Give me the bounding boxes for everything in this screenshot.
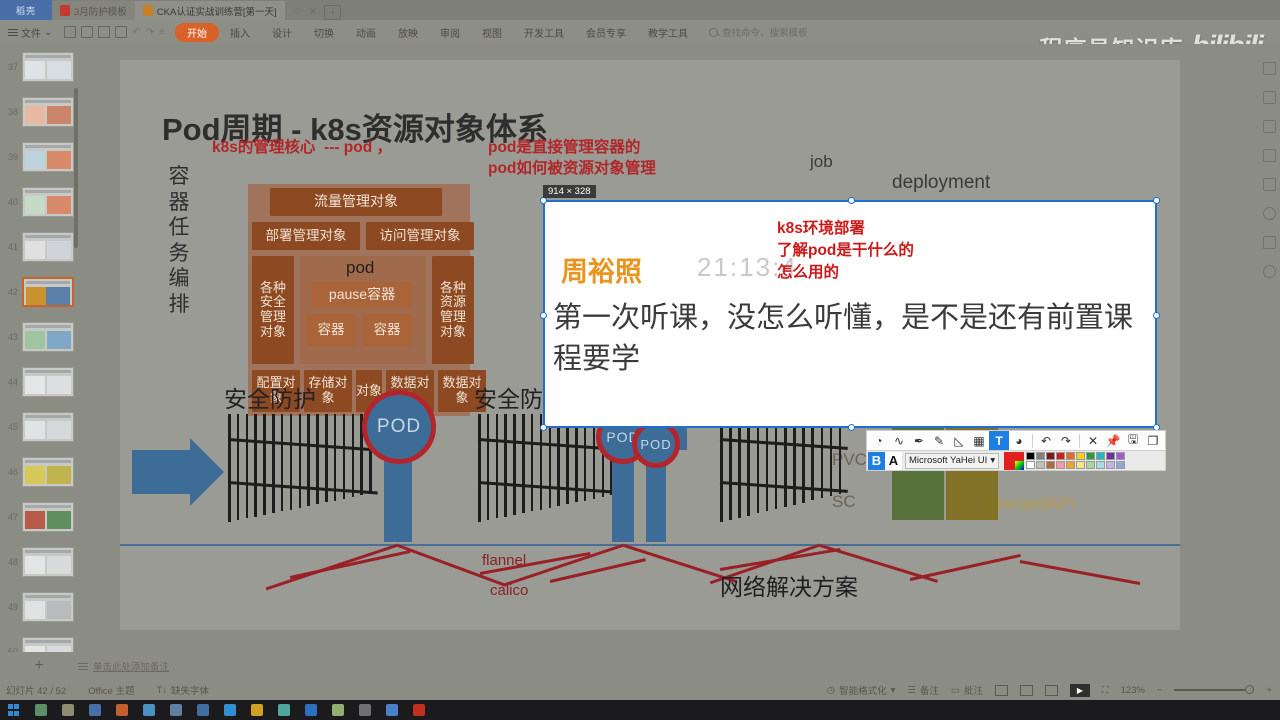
mail-icon-glyph	[224, 704, 236, 716]
right-tool-rail	[1258, 44, 1280, 652]
resize-handle-n[interactable]	[848, 197, 855, 204]
resize-handle-s[interactable]	[848, 424, 855, 431]
fence-1	[228, 414, 378, 522]
color-swatch[interactable]	[1086, 452, 1095, 460]
search-icon	[709, 28, 718, 37]
search-icon[interactable]	[27, 700, 54, 720]
chrome-icon-glyph	[251, 704, 263, 716]
ground-line	[120, 544, 1180, 546]
document-tab-1-label: 3月防护模板	[74, 4, 127, 18]
viewer-name: 周裕照	[561, 250, 642, 289]
bold-button[interactable]: B	[868, 452, 885, 470]
align-icon[interactable]	[1263, 91, 1276, 104]
ribbon-tab-devtools[interactable]: 开发工具	[513, 22, 575, 43]
notes-bar: + 单击此处添加备注	[0, 652, 1280, 680]
undo-icon[interactable]: ↶	[1036, 431, 1056, 450]
thumbnail-number: 41	[4, 242, 18, 252]
browser-icon-glyph	[143, 704, 155, 716]
chevron-down-icon: ▾	[891, 685, 896, 696]
ppt-icon-orange	[143, 5, 153, 16]
redo-icon[interactable]: ↷	[146, 27, 154, 38]
thumbnail-item-40[interactable]: 40	[0, 179, 78, 224]
effects-icon[interactable]	[1263, 120, 1276, 133]
status-left-group: 幻灯片 42 / 52 Office 主题 T↓ 缺失字体	[0, 683, 209, 697]
thumbnail-number: 44	[4, 377, 18, 387]
font-warning-label: 缺失字体	[171, 683, 209, 697]
file-menu-button[interactable]: 文件 ⌄	[0, 25, 58, 40]
add-slide-button[interactable]: +	[0, 657, 78, 675]
network-leg	[290, 550, 411, 578]
quick-access-toolbar: ↶ ↷ ≡	[58, 26, 171, 38]
cloud-icon[interactable]	[270, 700, 297, 720]
doc-icon-red	[60, 5, 70, 16]
thumbnail-number: 46	[4, 467, 18, 477]
tab-actions: ♡ ✕ +	[285, 5, 349, 20]
shape-tool-icon[interactable]	[1263, 207, 1276, 220]
wps-icon-glyph	[305, 704, 317, 716]
current-color-swatch[interactable]	[1004, 452, 1024, 470]
ribbon-tab-animation[interactable]: 动画	[345, 22, 387, 43]
notes-icon[interactable]	[324, 700, 351, 720]
color-swatch[interactable]	[1036, 452, 1045, 460]
smart-beautify-icon[interactable]	[1263, 62, 1276, 75]
thumbnail-preview[interactable]	[22, 97, 74, 127]
network-leg	[1020, 560, 1140, 584]
taskview-icon-glyph	[62, 704, 74, 716]
recorder-icon-glyph	[359, 704, 371, 716]
ribbon-search-placeholder: 查找命令、搜索模板	[722, 25, 808, 39]
app-logo[interactable]: 稻壳	[0, 0, 52, 20]
more-icon[interactable]: ≡	[159, 27, 165, 38]
notes-icon	[78, 661, 88, 672]
notes-toggle[interactable]: ☰ 备注	[907, 683, 939, 697]
search-icon-glyph	[35, 704, 47, 716]
smart-format-label: 智能格式化	[839, 683, 887, 697]
color-swatch[interactable]	[1026, 461, 1035, 469]
thumbnail-item-38[interactable]: 38	[0, 89, 78, 134]
textbox-red-note: k8s环境部署 了解pod是干什么的 怎么用的	[777, 218, 914, 284]
color-swatch[interactable]	[1066, 452, 1075, 460]
chevron-down-icon: ⌄	[44, 27, 52, 38]
color-swatch[interactable]	[1026, 452, 1035, 460]
heart-icon[interactable]: ♡	[293, 7, 302, 18]
wave-line-icon[interactable]: ∿	[889, 431, 909, 450]
zoom-in-button[interactable]: +	[1266, 685, 1272, 696]
color-swatch[interactable]	[1096, 452, 1105, 460]
thumbnail-item-49[interactable]: 49	[0, 584, 78, 629]
taskview-icon[interactable]	[54, 700, 81, 720]
cloud-icon-glyph	[278, 704, 290, 716]
windows-taskbar	[0, 700, 1280, 720]
toolbar-divider	[1079, 434, 1080, 448]
ribbon-tab-start[interactable]: 开始	[175, 23, 219, 42]
flow-arrow-body	[132, 450, 192, 494]
normal-view-icon[interactable]	[995, 685, 1008, 696]
color-swatch[interactable]	[1076, 452, 1085, 460]
label-deployment: deployment	[892, 172, 990, 194]
image-tool-icon[interactable]	[1263, 178, 1276, 191]
ribbon-tab-member[interactable]: 会员专享	[575, 22, 637, 43]
zoom-out-button[interactable]: −	[1157, 685, 1163, 696]
crop-icon[interactable]	[1263, 149, 1276, 162]
notes-toggle-label: 备注	[920, 683, 939, 697]
print-preview-icon[interactable]	[115, 26, 127, 38]
grid-icon[interactable]: ▦	[969, 431, 989, 450]
color-swatch[interactable]	[1086, 461, 1095, 469]
pen-icon[interactable]: ✒	[909, 431, 929, 450]
hamburger-icon	[8, 27, 18, 38]
start-button[interactable]	[0, 700, 27, 720]
thumbnail-item-39[interactable]: 39	[0, 134, 78, 179]
notes-placeholder-label: 单击此处添加备注	[93, 659, 169, 673]
reading-view-icon[interactable]	[1045, 685, 1058, 696]
thumbnail-preview[interactable]	[22, 592, 74, 622]
label-job: job	[810, 152, 833, 172]
label-calico: calico	[490, 582, 528, 599]
ribbon-tabs: 开始 插入 设计 切换 动画 放映 审阅 视图 开发工具 会员专享 教学工具	[175, 22, 699, 43]
selection-size-tooltip: 914 × 328	[543, 185, 596, 198]
comment-icon: ▭	[951, 685, 960, 696]
thumbnail-item-42[interactable]: 42	[0, 269, 78, 314]
copy-icon[interactable]: ❐	[1143, 431, 1163, 450]
status-bar: 幻灯片 42 / 52 Office 主题 T↓ 缺失字体 ◷ 智能格式化 ▾ …	[0, 680, 1280, 700]
ribbon-tab-teaching[interactable]: 教学工具	[637, 22, 699, 43]
thumbnail-preview[interactable]	[22, 52, 74, 82]
sorter-view-icon[interactable]	[1020, 685, 1033, 696]
highlighter-icon[interactable]: ◺	[949, 431, 969, 450]
comments-toggle[interactable]: ▭ 批注	[951, 683, 983, 697]
comments-toggle-label: 批注	[964, 683, 983, 697]
chrome-icon[interactable]	[243, 700, 270, 720]
widgets-icon-glyph	[116, 704, 128, 716]
security-title-1: 安全防护	[224, 380, 316, 414]
thumbnail-number: 47	[4, 512, 18, 522]
pin-icon[interactable]: 📌	[1103, 431, 1123, 450]
ribbon-tab-slideshow[interactable]: 放映	[387, 22, 429, 43]
thumbnail-number: 40	[4, 197, 18, 207]
color-palette[interactable]	[1026, 452, 1125, 469]
thumbnail-number: 38	[4, 107, 18, 117]
smart-format-button[interactable]: ◷ 智能格式化 ▾	[827, 683, 896, 697]
wps-icon[interactable]	[297, 700, 324, 720]
thumbnail-item-48[interactable]: 48	[0, 539, 78, 584]
thumbnail-preview[interactable]	[22, 322, 74, 352]
document-tab-2-label: CKA认证实战训练营[第一天]	[157, 4, 277, 18]
blue-app-icon[interactable]	[378, 700, 405, 720]
resize-handle-w[interactable]	[540, 312, 547, 319]
slide-counter: 幻灯片 42 / 52	[6, 683, 66, 697]
slide-thumbnail-pane[interactable]: 373839404142434445464748495051	[0, 44, 78, 652]
save-icon[interactable]	[64, 26, 76, 38]
thumbnail-preview[interactable]	[22, 367, 74, 397]
box-deploy-management: 部署管理对象	[252, 222, 360, 250]
mail-icon[interactable]	[216, 700, 243, 720]
color-swatch[interactable]	[1056, 461, 1065, 469]
chevron-down-icon: ▾	[990, 455, 995, 466]
store-icon-glyph	[89, 704, 101, 716]
zoom-slider[interactable]	[1174, 689, 1254, 691]
ribbon-tab-view[interactable]: 视图	[471, 22, 513, 43]
font-family-value: Microsoft YaHei UI	[909, 455, 987, 466]
box-resource-management: 各种资源管理对象	[432, 256, 474, 364]
pod-label: pod	[346, 258, 374, 278]
font-warning-icon: T↓	[156, 685, 167, 696]
pod-stem-2	[612, 456, 634, 542]
text-tool-icon[interactable]: T	[989, 431, 1009, 450]
box-access-management: 访问管理对象	[366, 222, 474, 250]
color-swatch[interactable]	[1116, 452, 1125, 460]
thumbnail-preview[interactable]	[22, 502, 74, 532]
thumbnail-preview[interactable]	[22, 637, 74, 653]
thumbnail-item-41[interactable]: 41	[0, 224, 78, 269]
box-container-2: 容器	[362, 314, 412, 346]
fence-3	[720, 414, 848, 522]
ink-format-row: B A Microsoft YaHei UI ▾	[866, 451, 1166, 471]
ink-annotation-toolbar: ◔∿✒✎◺▦T◕↶↷✕📌🖫❐ B A Microsoft YaHei UI ▾	[866, 430, 1166, 471]
ribbon-search[interactable]: 查找命令、搜索模板	[709, 25, 808, 39]
resize-handle-sw[interactable]	[540, 424, 547, 431]
flow-arrow-head	[190, 438, 224, 506]
resize-handle-nw[interactable]	[540, 197, 547, 204]
thumbnail-number: 49	[4, 602, 18, 612]
ribbon-tab-design[interactable]: 设计	[261, 22, 303, 43]
thumbnail-preview[interactable]	[22, 277, 74, 307]
color-swatch[interactable]	[1096, 461, 1105, 469]
pod-stem-1	[384, 456, 412, 542]
fit-slide-icon[interactable]: ⛶	[1102, 685, 1109, 696]
zoom-slider-knob[interactable]	[1245, 685, 1254, 694]
photos-icon[interactable]	[189, 700, 216, 720]
wps-presentation-window: 稻壳 3月防护模板 CKA认证实战训练营[第一天] ♡ ✕ + 文件 ⌄ ↶ ↷	[0, 0, 1280, 720]
resize-handle-ne[interactable]	[1153, 197, 1160, 204]
thumbnail-item-37[interactable]: 37	[0, 44, 78, 89]
thumbnail-preview[interactable]	[22, 457, 74, 487]
color-swatch[interactable]	[1106, 461, 1115, 469]
thumbnail-preview[interactable]	[22, 547, 74, 577]
slideshow-play-button[interactable]: ▶	[1070, 684, 1090, 697]
feedback-icon[interactable]	[1263, 265, 1276, 278]
resize-handle-e[interactable]	[1153, 312, 1160, 319]
thumbnail-number: 48	[4, 557, 18, 567]
eraser-icon[interactable]: ◕	[1009, 431, 1029, 450]
browser-icon[interactable]	[135, 700, 162, 720]
store-icon[interactable]	[81, 700, 108, 720]
save-as-icon[interactable]	[81, 26, 93, 38]
font-style-button[interactable]: A	[885, 452, 902, 470]
network-leg	[910, 554, 1021, 580]
box-container-1: 容器	[306, 314, 356, 346]
color-swatch[interactable]	[1116, 461, 1125, 469]
document-tab-2[interactable]: CKA认证实战训练营[第一天]	[135, 1, 285, 20]
new-tab-button[interactable]: +	[324, 5, 341, 20]
red-app-icon-glyph	[413, 704, 425, 716]
red-app-icon[interactable]	[405, 700, 432, 720]
notes-toggle-icon: ☰	[907, 685, 916, 696]
lasso-icon[interactable]: ◔	[869, 431, 889, 450]
thumbnail-number: 42	[4, 287, 18, 297]
widgets-icon[interactable]	[108, 700, 135, 720]
color-swatch[interactable]	[1056, 452, 1065, 460]
box-traffic-management: 流量管理对象	[270, 188, 442, 216]
pencil-icon[interactable]: ✎	[929, 431, 949, 450]
annotation-textbox[interactable]: 周裕照 21:13:4 k8s环境部署 了解pod是干什么的 怎么用的 第一次听…	[543, 200, 1157, 428]
ribbon-tab-review[interactable]: 审阅	[429, 22, 471, 43]
annotation-red-1: k8s的管理核心 --- pod ，	[212, 138, 392, 159]
close-icon[interactable]: ✕	[309, 7, 317, 18]
color-swatch[interactable]	[1046, 461, 1055, 469]
photos-icon-glyph	[197, 704, 209, 716]
status-right-group: ◷ 智能格式化 ▾ ☰ 备注 ▭ 批注 ▶ ⛶ 123% − +	[827, 683, 1280, 697]
settings-icon[interactable]	[162, 700, 189, 720]
network-leg	[550, 558, 647, 582]
pod-stem-4	[646, 462, 666, 542]
label-flannel: flannel	[482, 552, 526, 569]
label-network-solution: 网络解决方案	[720, 568, 858, 602]
notes-icon-glyph	[332, 704, 344, 716]
save-icon[interactable]: 🖫	[1123, 431, 1143, 450]
color-swatch[interactable]	[1066, 461, 1075, 469]
box-security-management: 各种安全管理对象	[252, 256, 294, 364]
notes-placeholder[interactable]: 单击此处添加备注	[78, 659, 169, 673]
ribbon-tab-transition[interactable]: 切换	[303, 22, 345, 43]
undo-icon[interactable]: ↶	[132, 27, 140, 38]
color-swatch[interactable]	[1076, 461, 1085, 469]
thumbnail-number: 45	[4, 422, 18, 432]
blue-app-icon-glyph	[386, 704, 398, 716]
smart-format-icon: ◷	[827, 685, 835, 696]
thumbnail-item-47[interactable]: 47	[0, 494, 78, 539]
print-icon[interactable]	[98, 26, 110, 38]
color-swatch[interactable]	[1036, 461, 1045, 469]
file-menu-label: 文件	[21, 25, 41, 40]
thumbnail-item-43[interactable]: 43	[0, 314, 78, 359]
thumbnail-preview[interactable]	[22, 232, 74, 262]
redo-icon[interactable]: ↷	[1056, 431, 1076, 450]
zoom-level[interactable]: 123%	[1121, 685, 1145, 696]
document-tab-1[interactable]: 3月防护模板	[52, 1, 135, 20]
thumbnail-item-45[interactable]: 45	[0, 404, 78, 449]
thumbnail-number: 43	[4, 332, 18, 342]
thumbnail-item-44[interactable]: 44	[0, 359, 78, 404]
thumbnail-preview[interactable]	[22, 187, 74, 217]
thumbnail-item-46[interactable]: 46	[0, 449, 78, 494]
pod-badge-1: POD	[362, 390, 436, 464]
ribbon-tab-insert[interactable]: 插入	[219, 22, 261, 43]
color-swatch[interactable]	[1106, 452, 1115, 460]
vertical-label-orchestration: 容器任务编排	[166, 164, 192, 318]
recorder-icon[interactable]	[351, 700, 378, 720]
toolbar-divider	[1032, 434, 1033, 448]
theme-name[interactable]: Office 主题	[88, 683, 134, 697]
thumbnail-item-50[interactable]: 50	[0, 629, 78, 652]
history-icon[interactable]	[1263, 236, 1276, 249]
font-family-select[interactable]: Microsoft YaHei UI ▾	[905, 453, 999, 469]
annotation-red-2: pod是直接管理容器的 pod如何被资源对象管理	[488, 138, 656, 180]
thumbnail-preview[interactable]	[22, 412, 74, 442]
box-pause-container: pause容器	[312, 282, 412, 308]
color-swatch[interactable]	[1046, 452, 1055, 460]
window-tab-bar: 稻壳 3月防护模板 CKA认证实战训练营[第一天] ♡ ✕ +	[0, 0, 1280, 20]
textbox-body[interactable]: 第一次听课，没怎么听懂，是不是还有前置课程要学	[553, 298, 1153, 380]
thumbnail-number: 39	[4, 152, 18, 162]
settings-icon-glyph	[170, 704, 182, 716]
thumbnail-preview[interactable]	[22, 142, 74, 172]
ink-tool-row: ◔∿✒✎◺▦T◕↶↷✕📌🖫❐	[866, 430, 1166, 451]
font-warning[interactable]: T↓ 缺失字体	[156, 683, 209, 697]
close-icon[interactable]: ✕	[1083, 431, 1103, 450]
thumbnail-number: 37	[4, 62, 18, 72]
